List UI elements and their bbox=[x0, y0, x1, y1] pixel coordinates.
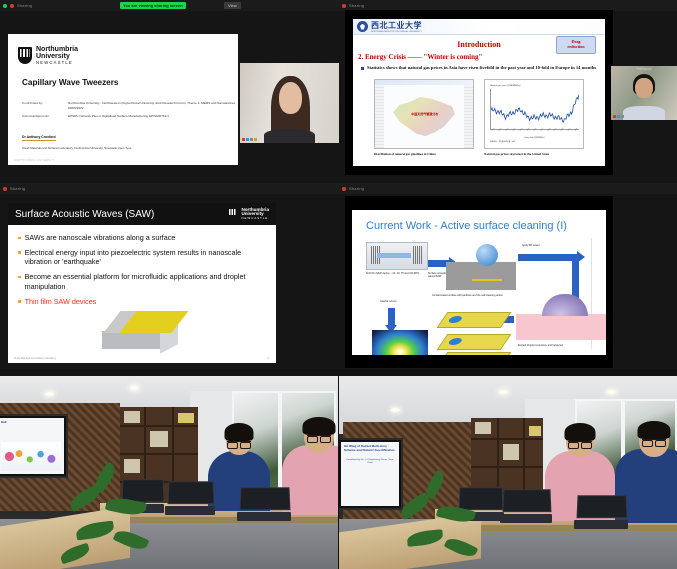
saw-device-illustration bbox=[102, 311, 182, 357]
meta-value: Northumbria University - Northwestern Po… bbox=[68, 101, 238, 111]
panel-1-bar-label: Sharing bbox=[17, 3, 32, 8]
screen-share-banner: You are viewing sharing screen bbox=[120, 2, 186, 9]
mic-muted-icon[interactable] bbox=[613, 115, 616, 118]
glasses-icon bbox=[568, 441, 592, 447]
diagram-saw-device: ZnO film SAW device ~ 20, 40, 75 and 100… bbox=[366, 242, 430, 282]
map-left-rail bbox=[375, 85, 384, 148]
slide-1-footer: NORTHUMBRIA UNIVERSITY bbox=[14, 159, 55, 162]
meta-row: Acknowledgements: EPSRC Network Plus in … bbox=[22, 114, 238, 119]
display-screen: Hall bbox=[0, 418, 64, 474]
meta-key: Acknowledgements: bbox=[22, 114, 62, 119]
view-menu-button[interactable]: View bbox=[224, 2, 241, 9]
video-feed bbox=[611, 66, 677, 120]
bullet-square-icon bbox=[361, 67, 364, 70]
meta-value: EPSRC Network Plus in Digitalised Surfac… bbox=[68, 114, 169, 119]
video-conference-screen: Sharing You are viewing sharing screen V… bbox=[0, 0, 677, 569]
meta-key: Contributed by: bbox=[22, 101, 62, 111]
figure-map-caption: Distribution of natural gas pipelines in… bbox=[374, 152, 474, 156]
room-camera-right[interactable]: On Wing of Rocket Multi-story Scheme and… bbox=[339, 376, 677, 569]
potted-plant bbox=[391, 465, 501, 569]
person-hair bbox=[225, 423, 254, 441]
panel-4-bar-label: Sharing bbox=[349, 186, 364, 191]
laptop bbox=[240, 487, 288, 521]
slide-2-letterbox: 西北工业大学 NORTHWESTERN POLYTECHNICAL UNIVER… bbox=[345, 10, 613, 175]
chart-x-tick: 2020 bbox=[561, 128, 564, 131]
display-content bbox=[1, 442, 62, 471]
drag-reduction-badge: Drag reduction bbox=[556, 36, 596, 54]
stack-layer bbox=[437, 352, 512, 355]
slide-4-letterbox: Current Work - Active surface cleaning (… bbox=[345, 196, 613, 368]
participant-tile-2[interactable]: Participant bbox=[611, 66, 677, 120]
diagram-label-4: Contaminated surface with particles and … bbox=[432, 294, 508, 297]
diagram-thermal-map bbox=[372, 330, 428, 355]
figure-map: 中国天然气管道分布 Distribution of natural gas pi… bbox=[374, 79, 474, 156]
slide-3-header: Surface Acoustic Waves (SAW) Northumbria… bbox=[8, 203, 276, 225]
bullet-text: Statistics shows that natural gas prices… bbox=[367, 65, 596, 72]
display-title: On Wing of Rocket Multi-story Scheme and… bbox=[341, 442, 399, 456]
bullet-square-icon bbox=[18, 237, 21, 240]
npu-logo-icon bbox=[357, 21, 368, 32]
bullet-text: Electrical energy input into piezoelectr… bbox=[25, 248, 266, 267]
shared-screen-panel-4[interactable]: Sharing Current Work - Active surface cl… bbox=[339, 183, 677, 369]
participant-name: Participant bbox=[611, 67, 677, 71]
avatar-face bbox=[635, 78, 652, 99]
video-icon[interactable] bbox=[617, 115, 620, 118]
slide-introduction: 西北工业大学 NORTHWESTERN POLYTECHNICAL UNIVER… bbox=[353, 19, 605, 166]
arrow-right-2 bbox=[518, 254, 578, 261]
status-red-icon bbox=[3, 187, 7, 191]
laptop bbox=[577, 495, 625, 529]
shield-icon bbox=[227, 208, 238, 221]
mic-muted-icon[interactable] bbox=[242, 138, 245, 141]
arrow-down-1 bbox=[572, 254, 579, 300]
slide-2-heading: 2. Energy Crisis —— "Winter is coming" bbox=[358, 53, 605, 61]
video-icon[interactable] bbox=[246, 138, 249, 141]
meta-row: Contributed by: Northumbria University -… bbox=[22, 101, 238, 111]
chart-x-tick: 2019 bbox=[554, 128, 557, 131]
stack-layer bbox=[437, 334, 512, 350]
potted-plant bbox=[58, 461, 168, 569]
bullet-square-icon bbox=[18, 300, 21, 303]
ceiling-light-icon bbox=[45, 392, 54, 396]
avatar-body bbox=[264, 129, 315, 143]
droplet-dome bbox=[542, 294, 588, 316]
glasses-icon bbox=[227, 441, 251, 447]
panel-1-title-bar: Sharing You are viewing sharing screen V… bbox=[0, 0, 339, 11]
avatar-face bbox=[279, 82, 303, 114]
status-red-icon bbox=[342, 187, 346, 191]
laptop bbox=[168, 481, 212, 515]
figure-map-image: 中国天然气管道分布 bbox=[374, 79, 474, 149]
chart-title: Natural gas price (US$/MMBtu) bbox=[490, 85, 579, 87]
npu-header: 西北工业大学 NORTHWESTERN POLYTECHNICAL UNIVER… bbox=[353, 19, 605, 35]
northumbria-logo: Northumbria University NEWCASTLE bbox=[227, 208, 269, 221]
person-torso bbox=[282, 445, 338, 515]
ceiling-light-icon bbox=[391, 408, 400, 412]
idt-pad-right bbox=[413, 246, 422, 264]
chart-source: 数据来源：美国能源信息署（EIA） bbox=[490, 141, 579, 143]
panel-4-title-bar: Sharing bbox=[339, 183, 677, 194]
display-caption: Hall bbox=[0, 418, 64, 428]
map-canvas: 中国天然气管道分布 bbox=[384, 85, 464, 148]
bullet-square-icon bbox=[18, 276, 21, 279]
slide-3-footer: Smart Materials and Surfaces Laboratory bbox=[14, 358, 56, 360]
slide-3-title: Surface Acoustic Waves (SAW) bbox=[15, 209, 154, 220]
seated-person-2 bbox=[282, 421, 338, 517]
tile-controls[interactable] bbox=[242, 138, 257, 141]
bullet-text: Become an essential platform for microfl… bbox=[25, 272, 266, 291]
figure-chart: Natural gas price (US$/MMBtu) 2010201120… bbox=[484, 79, 584, 156]
ceiling-light-icon bbox=[499, 390, 508, 394]
laptop bbox=[503, 489, 549, 523]
slide-3-bullets: SAWs are nanoscale vibrations along a su… bbox=[8, 225, 276, 357]
slide-4-title: Current Work - Active surface cleaning (… bbox=[366, 220, 606, 232]
diagram-label-7: Excited droplet resonance and behaviour bbox=[518, 344, 574, 347]
figure-chart-image: Natural gas price (US$/MMBtu) 2010201120… bbox=[484, 79, 584, 149]
status-red-icon bbox=[342, 4, 346, 8]
chart-x-tick: 2010 bbox=[492, 128, 495, 131]
device-surface bbox=[472, 279, 502, 282]
slide-capillary-wave-tweezers: Northumbria University NEWCASTLE Capilla… bbox=[8, 34, 238, 165]
person-hair bbox=[565, 423, 596, 441]
institution-line-1: Northumbria bbox=[36, 46, 78, 53]
panel-2-bar-label: Sharing bbox=[349, 3, 364, 8]
bullet-item: SAWs are nanoscale vibrations along a su… bbox=[18, 233, 266, 243]
slide-2-bullet: Statistics shows that natural gas prices… bbox=[361, 65, 599, 72]
tile-controls[interactable] bbox=[613, 115, 624, 118]
person-hair bbox=[303, 417, 336, 435]
figure-chart-caption: Natural gas prices skyrocket in the Unit… bbox=[484, 152, 584, 156]
reaction-icon[interactable] bbox=[254, 138, 257, 141]
ceiling-light-icon bbox=[130, 386, 139, 390]
slide-1-title: Capillary Wave Tweezers bbox=[22, 78, 238, 87]
chart-x-tick: 2022 bbox=[575, 128, 578, 131]
slide-2-figures: 中国天然气管道分布 Distribution of natural gas pi… bbox=[353, 79, 605, 156]
institution-line-3: NEWCASTLE bbox=[241, 217, 269, 220]
more-icon[interactable] bbox=[250, 138, 253, 141]
chart-plot bbox=[490, 89, 579, 130]
device-image bbox=[366, 242, 428, 270]
northumbria-logo: Northumbria University NEWCASTLE bbox=[18, 46, 238, 65]
more-icon[interactable] bbox=[621, 115, 624, 118]
diagram-cleaning-stack bbox=[432, 308, 518, 355]
bullet-text: SAWs are nanoscale vibrations along a su… bbox=[25, 233, 176, 243]
shared-screen-panel-1[interactable]: Sharing You are viewing sharing screen V… bbox=[0, 0, 339, 183]
slide-current-work: Current Work - Active surface cleaning (… bbox=[352, 210, 606, 355]
slide-1-meta: Contributed by: Northumbria University -… bbox=[22, 101, 238, 118]
chart-x-tick: 2011 bbox=[499, 128, 502, 131]
status-red-icon bbox=[10, 4, 14, 8]
badge-line-2: reduction bbox=[567, 45, 584, 50]
slide-surface-acoustic-waves: Surface Acoustic Waves (SAW) Northumbria… bbox=[8, 203, 276, 363]
wave-path bbox=[377, 253, 411, 258]
droplet-icon bbox=[476, 244, 498, 266]
chart-legend: Henry Hub (US$/MMBtu) bbox=[490, 137, 579, 139]
bullet-text: Thin film SAW devices bbox=[25, 297, 97, 307]
status-green-icon bbox=[3, 4, 7, 8]
map-label: 中国天然气管道分布 bbox=[411, 112, 438, 116]
slide-3-page-number: 3 bbox=[268, 357, 269, 360]
room-camera-left[interactable]: Hall bbox=[0, 376, 338, 569]
person-hair bbox=[638, 421, 671, 439]
stack-layer bbox=[437, 312, 512, 328]
process-diagram: ZnO film SAW device ~ 20, 40, 75 and 100… bbox=[366, 238, 592, 349]
chart-x-tick: 2021 bbox=[568, 128, 571, 131]
avatar-body bbox=[623, 106, 665, 120]
bullet-item: Electrical energy input into piezoelectr… bbox=[18, 248, 266, 267]
panel-3-bar-label: Sharing bbox=[10, 186, 25, 191]
map-right-rail bbox=[464, 85, 473, 148]
diagram-label-5: Gas/Air source bbox=[380, 300, 420, 303]
shared-screen-panel-2[interactable]: Sharing 西北工业大学 NORTHWESTERN POLYTECHNICA… bbox=[339, 0, 677, 183]
chart-x-ticks: 2010201120122013201420152016201720182019… bbox=[490, 131, 579, 132]
bullet-square-icon bbox=[18, 251, 21, 254]
diagram-excited-droplet bbox=[516, 314, 606, 340]
glasses-icon bbox=[307, 435, 331, 441]
diagram-label-1: ZnO film SAW device ~ 20, 40, 75 and 100… bbox=[366, 272, 430, 275]
org-name: 西北工业大学 bbox=[371, 20, 422, 31]
shared-screen-panel-3[interactable]: Sharing Surface Acoustic Waves (SAW) Nor… bbox=[0, 183, 339, 369]
participant-tile-1[interactable] bbox=[240, 63, 339, 143]
institution-line-3: NEWCASTLE bbox=[36, 61, 78, 65]
bullet-item-highlighted: Thin film SAW devices bbox=[18, 297, 266, 307]
arrow-down-2 bbox=[388, 308, 395, 326]
panel-3-title-bar: Sharing bbox=[0, 183, 339, 194]
diagram-label-3: Apply RF power bbox=[522, 244, 556, 247]
slide-1-affiliation: Smart Materials and Surfaces Laboratory,… bbox=[22, 146, 238, 150]
org-subtitle: NORTHWESTERN POLYTECHNICAL UNIVERSITY bbox=[371, 31, 422, 33]
video-feed bbox=[240, 63, 339, 143]
ceiling-light-icon bbox=[607, 390, 616, 394]
slide-1-author: Dr Anthony Croxford bbox=[22, 135, 56, 141]
glasses-icon bbox=[642, 439, 666, 445]
diagram-droplet-stage bbox=[446, 262, 516, 290]
shield-icon bbox=[18, 47, 32, 64]
bullet-item: Become an essential platform for microfl… bbox=[18, 272, 266, 291]
